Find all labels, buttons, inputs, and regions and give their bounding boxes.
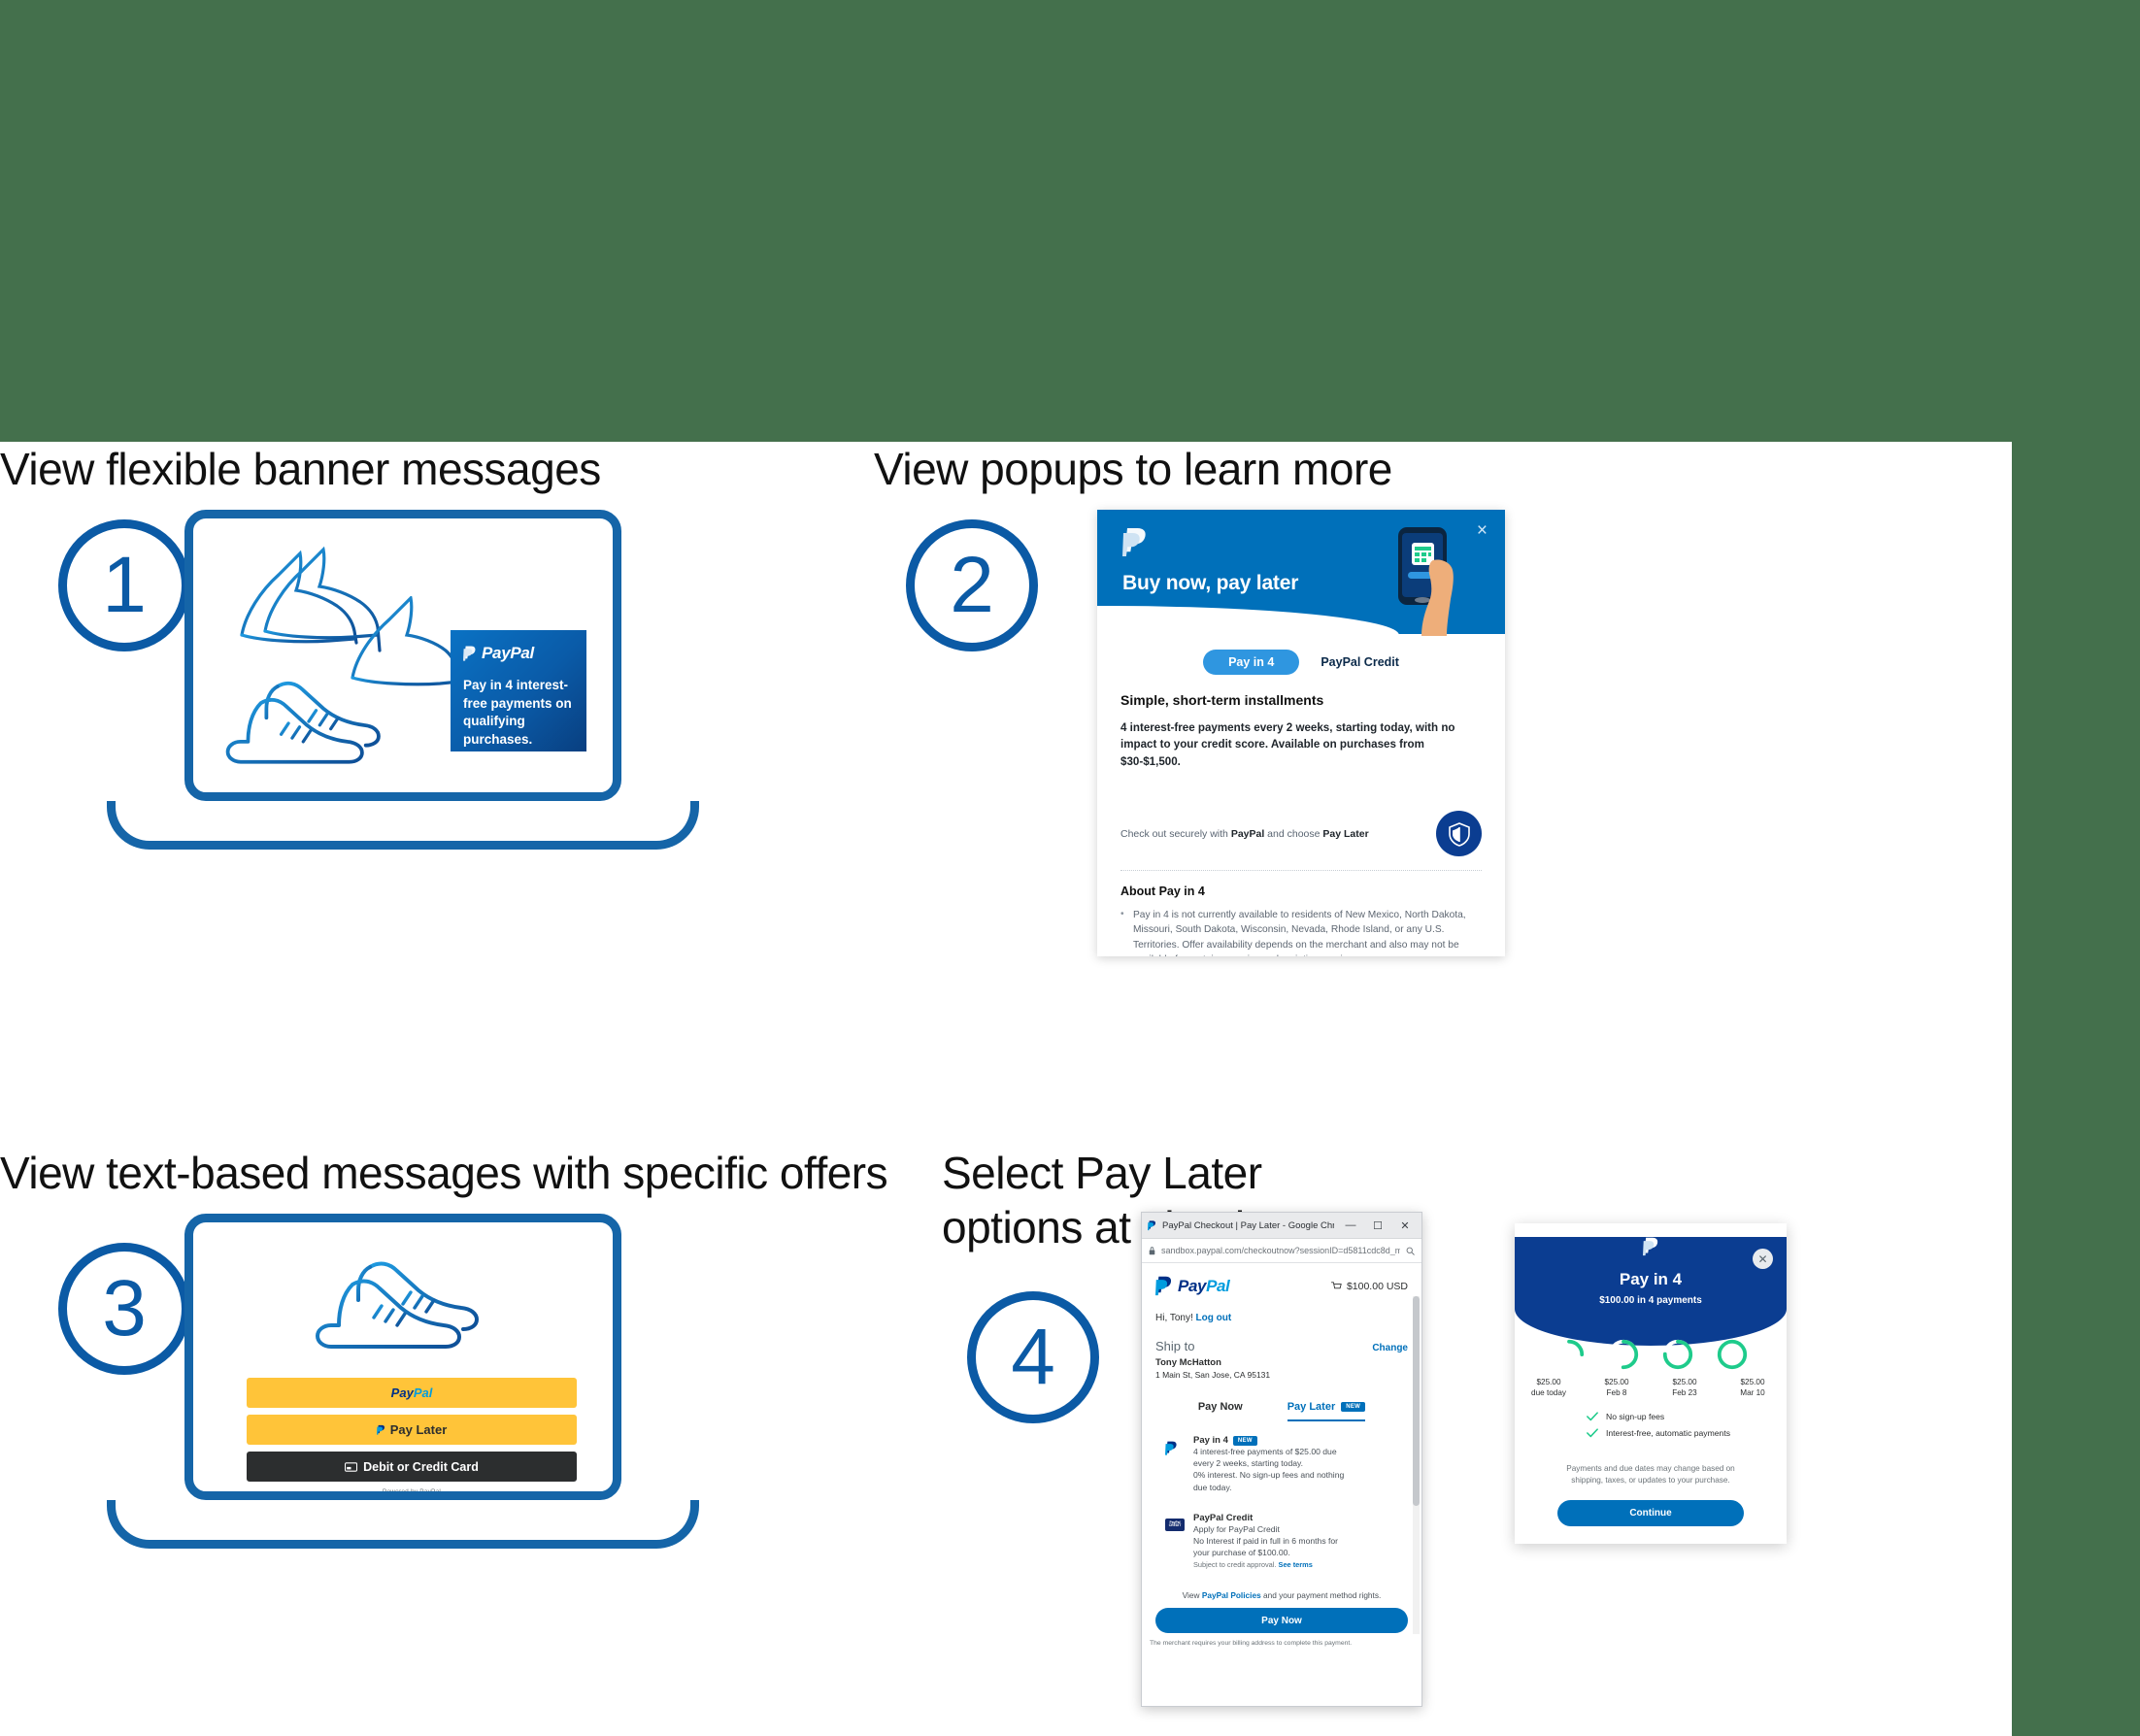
- option-pay-in-4-line1: 4 interest-free payments of $25.00 due: [1193, 1446, 1408, 1457]
- shield-icon: [1436, 811, 1482, 856]
- tab-paypal-credit[interactable]: PayPal Credit: [1321, 655, 1399, 669]
- paypal-credit-card-icon: PayPalCREDIT: [1165, 1513, 1185, 1570]
- close-icon[interactable]: ✕: [1394, 1219, 1416, 1232]
- close-icon[interactable]: ✕: [1753, 1249, 1773, 1269]
- tab-pay-in-4[interactable]: Pay in 4: [1203, 650, 1299, 675]
- policies-prefix: View: [1183, 1590, 1202, 1600]
- sneakers-icon: [220, 669, 395, 776]
- paypal-button-stack: PayPal Pay Later Debit or Credit Card: [247, 1378, 577, 1500]
- merchant-note: The merchant requires your billing addre…: [1142, 1633, 1421, 1647]
- popup-heading: Simple, short-term installments: [1120, 692, 1482, 708]
- phone-hand-illustration: [1369, 521, 1476, 636]
- option-pay-in-4-line2: every 2 weeks, starting today.: [1193, 1457, 1408, 1469]
- option-credit-line3: your purchase of $100.00.: [1193, 1547, 1408, 1558]
- policies-suffix: and your payment method rights.: [1261, 1590, 1382, 1600]
- search-icon[interactable]: [1406, 1247, 1415, 1255]
- debit-credit-card-button[interactable]: Debit or Credit Card: [247, 1452, 577, 1482]
- payment-amounts: $25.00due today $25.00Feb 8 $25.00Feb 23…: [1515, 1377, 1787, 1398]
- policies-row: View PayPal Policies and your payment me…: [1142, 1590, 1421, 1600]
- secure-prefix: Check out securely with: [1120, 828, 1231, 840]
- option-pay-in-4-title: Pay in 4: [1193, 1435, 1228, 1446]
- credit-sub-prefix: Subject to credit approval.: [1193, 1560, 1279, 1569]
- laptop-screen-1: PayPal Pay in 4 interest-free payments o…: [184, 510, 621, 801]
- ship-to-name: Tony McHatton: [1142, 1353, 1421, 1368]
- ship-to-label: Ship to: [1155, 1339, 1194, 1353]
- sneakers-icon: [305, 1252, 499, 1358]
- checkout-header: PayPal $100.00 USD: [1142, 1263, 1421, 1297]
- payment-item: $25.00Feb 8: [1593, 1377, 1640, 1398]
- step-1-number-badge: 1: [58, 519, 190, 651]
- step-2-number-badge: 2: [906, 519, 1038, 651]
- step-1-caption: View flexible banner messages: [0, 442, 971, 496]
- benefit-label: No sign-up fees: [1606, 1412, 1664, 1421]
- paypal-learn-more-popup: Buy now, pay later × P: [1097, 510, 1505, 956]
- option-credit-line1: Apply for PayPal Credit: [1193, 1523, 1408, 1535]
- secure-checkout-row: Check out securely with PayPal and choos…: [1120, 811, 1482, 871]
- option-credit-subtext: Subject to credit approval. See terms: [1193, 1560, 1408, 1569]
- option-credit-title: PayPal Credit: [1193, 1513, 1253, 1523]
- powered-by-label: Powered by PayPal: [383, 1488, 441, 1495]
- browser-url-text: sandbox.paypal.com/checkoutnow?sessionID…: [1161, 1246, 1400, 1255]
- option-credit-line2: No Interest if paid in full in 6 months …: [1193, 1535, 1408, 1547]
- pay-later-button-label: Pay Later: [390, 1422, 448, 1437]
- paypal-policies-link[interactable]: PayPal Policies: [1202, 1590, 1261, 1600]
- page-scrollbar[interactable]: [1413, 1296, 1420, 1634]
- popup-tabs: Pay in 4 PayPal Credit: [1120, 650, 1482, 675]
- step-2-number: 2: [950, 540, 994, 631]
- step-3-caption: View text-based messages with specific o…: [0, 1146, 971, 1200]
- payment-date: Feb 8: [1607, 1388, 1627, 1397]
- progress-ring-3: [1661, 1338, 1694, 1371]
- payment-tabs: Pay Now Pay Later NEW: [1142, 1401, 1421, 1421]
- maximize-icon[interactable]: ☐: [1367, 1219, 1388, 1232]
- modal-title: Pay in 4: [1515, 1270, 1787, 1289]
- greeting-row: Hi, Tony! Log out: [1142, 1297, 1421, 1323]
- checkout-page-content: PayPal $100.00 USD Hi, Tony! Log out Shi…: [1142, 1263, 1421, 1647]
- paypal-mark-icon: [1122, 527, 1148, 562]
- minimize-icon[interactable]: —: [1340, 1219, 1361, 1231]
- modal-header: ✕ Pay in 4 $100.00 in 4 payments: [1515, 1237, 1787, 1346]
- new-badge: NEW: [1233, 1436, 1257, 1446]
- laptop-screen-3: PayPal Pay Later Debit or Credit Card: [184, 1214, 621, 1500]
- payment-amount: $25.00: [1604, 1378, 1628, 1386]
- check-icon: [1587, 1412, 1598, 1421]
- ship-to-row: Ship to Change: [1142, 1323, 1421, 1353]
- tab-pay-later-label: Pay Later: [1287, 1401, 1336, 1413]
- benefit-item: No sign-up fees: [1587, 1412, 1664, 1421]
- progress-ring-2: [1607, 1338, 1640, 1371]
- progress-ring-1: [1553, 1338, 1586, 1371]
- cart-total: $100.00 USD: [1331, 1281, 1408, 1292]
- logout-link[interactable]: Log out: [1196, 1313, 1232, 1323]
- popup-paragraph: 4 interest-free payments every 2 weeks, …: [1120, 719, 1482, 770]
- payment-amount: $25.00: [1740, 1378, 1764, 1386]
- option-pay-in-4[interactable]: Pay in 4 NEW 4 interest-free payments of…: [1142, 1421, 1421, 1493]
- paypal-mark-icon: [1155, 1276, 1173, 1297]
- browser-window-title: PayPal Checkout | Pay Later - Google Chr…: [1162, 1220, 1334, 1231]
- paypal-button-label-pay: Pay: [391, 1385, 414, 1400]
- greeting-text: Hi, Tony!: [1155, 1313, 1193, 1323]
- payment-item: $25.00Mar 10: [1729, 1377, 1776, 1398]
- step-2-panel: 2 Buy now, pay later ×: [874, 442, 2039, 1063]
- laptop-base-3: [107, 1500, 699, 1549]
- payment-amount: $25.00: [1536, 1378, 1560, 1386]
- popup-header: Buy now, pay later ×: [1097, 510, 1505, 634]
- payment-date: Feb 23: [1672, 1388, 1697, 1397]
- powered-by-paypal: Powered by PayPal: [247, 1488, 577, 1495]
- benefit-item: Interest-free, automatic payments: [1587, 1428, 1730, 1438]
- payment-date: Mar 10: [1740, 1388, 1764, 1397]
- cart-total-amount: $100.00 USD: [1347, 1281, 1408, 1292]
- paypal-wordmark: PayPal: [1178, 1277, 1229, 1296]
- step-4-number: 4: [1011, 1312, 1055, 1403]
- paypal-favicon-icon: [1148, 1220, 1156, 1231]
- step-4-number-badge: 4: [967, 1291, 1099, 1423]
- tab-pay-now[interactable]: Pay Now: [1198, 1401, 1243, 1421]
- continue-button[interactable]: Continue: [1557, 1500, 1744, 1526]
- banner-learn-more-link[interactable]: Learn more: [463, 754, 574, 763]
- close-icon[interactable]: ×: [1477, 521, 1488, 540]
- step-1-panel: 1: [0, 442, 971, 985]
- secure-brand: PayPal: [1231, 828, 1264, 840]
- tab-pay-later[interactable]: Pay Later NEW: [1287, 1401, 1365, 1421]
- payment-date: due today: [1531, 1388, 1566, 1397]
- payment-progress-rings: [1515, 1338, 1787, 1371]
- paypal-button-label-pal: Pal: [414, 1385, 433, 1400]
- secure-option: Pay Later: [1322, 828, 1368, 840]
- step-4-panel: 4 PayPal Checkout | Pay Later - Google C…: [942, 1146, 2140, 1728]
- debit-credit-card-label: Debit or Credit Card: [363, 1460, 479, 1474]
- step-3-number: 3: [102, 1263, 147, 1354]
- payment-item: $25.00Feb 23: [1661, 1377, 1708, 1398]
- step-1-number: 1: [102, 540, 147, 631]
- browser-title-bar: PayPal Checkout | Pay Later - Google Chr…: [1142, 1213, 1421, 1239]
- ship-to-address: 1 Main St, San Jose, CA 95131: [1142, 1368, 1421, 1380]
- check-icon: [1587, 1428, 1598, 1438]
- benefit-label: Interest-free, automatic payments: [1606, 1428, 1730, 1438]
- popup-title: Buy now, pay later: [1122, 572, 1298, 595]
- popup-body: Pay in 4 PayPal Credit Simple, short-ter…: [1097, 650, 1505, 956]
- secure-middle: and choose: [1264, 828, 1322, 840]
- see-terms-link[interactable]: See terms: [1279, 1560, 1313, 1569]
- step-3-number-badge: 3: [58, 1243, 190, 1375]
- modal-subtitle: $100.00 in 4 payments: [1515, 1295, 1787, 1306]
- paypal-mark-icon: [463, 646, 477, 662]
- change-address-link[interactable]: Change: [1372, 1343, 1408, 1353]
- pay-later-button[interactable]: Pay Later: [247, 1415, 577, 1445]
- paypal-mark-icon: [1165, 1435, 1185, 1493]
- about-heading: About Pay in 4: [1120, 885, 1482, 898]
- lock-icon: [1149, 1247, 1155, 1255]
- pay-in-4-modal: ✕ Pay in 4 $100.00 in 4 payments: [1515, 1223, 1787, 1544]
- payment-item: $25.00due today: [1525, 1377, 1572, 1398]
- paypal-wordmark: PayPal: [482, 644, 534, 663]
- paypal-banner-ad[interactable]: PayPal Pay in 4 interest-free payments o…: [451, 630, 586, 751]
- benefits-list: No sign-up fees Interest-free, automatic…: [1515, 1412, 1787, 1438]
- payment-amount: $25.00: [1672, 1378, 1696, 1386]
- paypal-checkout-button[interactable]: PayPal: [247, 1378, 577, 1408]
- progress-ring-4: [1716, 1338, 1749, 1371]
- secure-checkout-text: Check out securely with PayPal and choos…: [1120, 828, 1369, 840]
- paypal-logo: PayPal: [463, 644, 574, 663]
- cart-icon: [1331, 1282, 1342, 1292]
- paypal-logo: PayPal: [1155, 1276, 1229, 1297]
- option-paypal-credit[interactable]: PayPalCREDIT PayPal Credit Apply for Pay…: [1142, 1499, 1421, 1570]
- paypal-mark-icon: [377, 1424, 385, 1436]
- credit-card-icon: [345, 1462, 357, 1472]
- chrome-browser-window: PayPal Checkout | Pay Later - Google Chr…: [1141, 1212, 1422, 1707]
- pay-now-button[interactable]: Pay Now: [1155, 1608, 1408, 1633]
- about-list: Pay in 4 is not currently available to r…: [1120, 908, 1482, 956]
- option-pay-in-4-line3: 0% interest. No sign-up fees and nothing: [1193, 1469, 1408, 1481]
- step-3-panel: 3 PayPal: [0, 1146, 971, 1689]
- about-item: Pay in 4 is not currently available to r…: [1120, 908, 1482, 956]
- scrollbar-thumb[interactable]: [1413, 1296, 1420, 1506]
- browser-address-bar[interactable]: sandbox.paypal.com/checkoutnow?sessionID…: [1142, 1239, 1421, 1263]
- banner-message: Pay in 4 interest-free payments on quali…: [463, 677, 574, 750]
- laptop-base-1: [107, 801, 699, 850]
- new-badge: NEW: [1341, 1402, 1365, 1412]
- modal-note: Payments and due dates may change based …: [1515, 1463, 1787, 1486]
- option-pay-in-4-line4: due today.: [1193, 1482, 1408, 1493]
- step-2-caption: View popups to learn more: [874, 442, 2039, 496]
- paypal-mark-icon: [1515, 1237, 1787, 1262]
